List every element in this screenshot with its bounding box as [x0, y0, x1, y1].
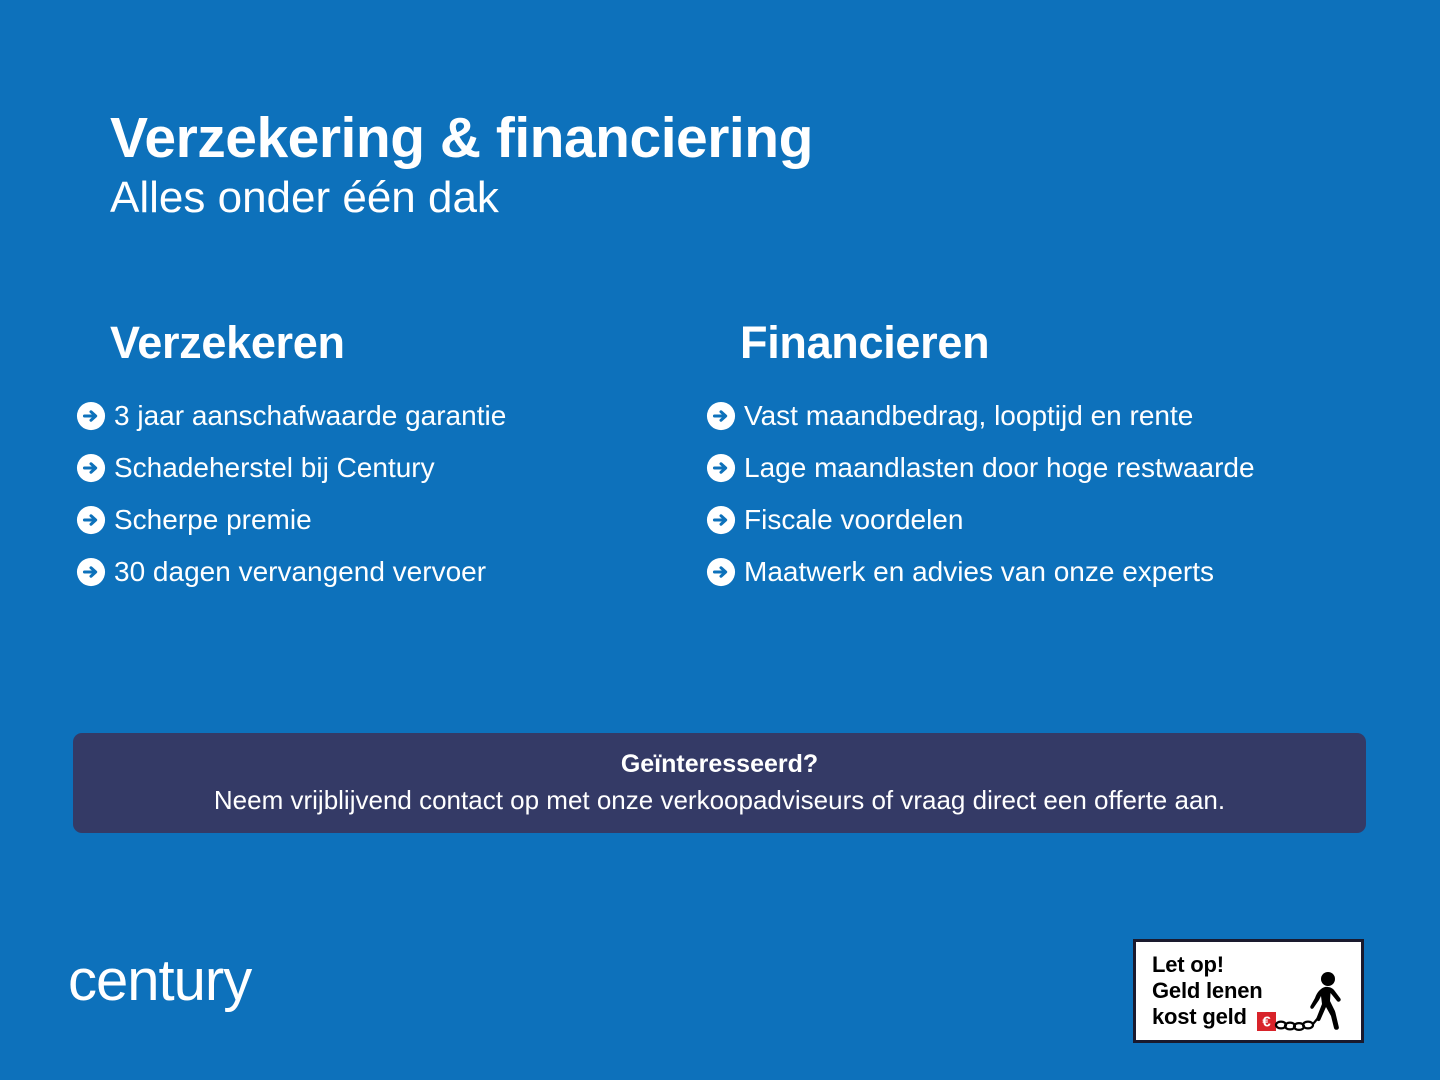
- column-heading-financieren: Financieren: [740, 318, 1330, 368]
- credit-warning-line-2: Geld lenen: [1152, 978, 1262, 1004]
- credit-warning-line-3: kost geld: [1152, 1004, 1262, 1030]
- feature-columns: Verzekeren 3 jaar aanschafwaarde garanti…: [0, 318, 1440, 598]
- list-item: Fiscale voordelen: [706, 494, 1330, 546]
- arrow-right-circle-icon: [706, 505, 736, 535]
- euro-block-icon: €: [1257, 1012, 1276, 1031]
- svg-text:€: €: [1262, 1014, 1271, 1031]
- credit-warning-inner: Let op! Geld lenen kost geld €: [1136, 942, 1361, 1040]
- arrow-right-circle-icon: [76, 557, 106, 587]
- credit-warning-line-1: Let op!: [1152, 952, 1262, 978]
- list-item: Maatwerk en advies van onze experts: [706, 546, 1330, 598]
- arrow-right-circle-icon: [76, 453, 106, 483]
- feature-label: Fiscale voordelen: [744, 506, 963, 534]
- feature-label: Scherpe premie: [114, 506, 312, 534]
- list-item: 3 jaar aanschafwaarde garantie: [76, 390, 630, 442]
- feature-list-verzekeren: 3 jaar aanschafwaarde garantie Schadeher…: [112, 390, 630, 598]
- feature-label: Lage maandlasten door hoge restwaarde: [744, 454, 1255, 482]
- slide-root: Verzekering & financiering Alles onder é…: [0, 0, 1440, 1080]
- chain-icon: [1276, 1018, 1318, 1030]
- feature-list-financieren: Vast maandbedrag, looptijd en rente Lage…: [742, 390, 1330, 598]
- arrow-right-circle-icon: [706, 453, 736, 483]
- cta-title: Geïnteresseerd?: [621, 749, 818, 779]
- cta-banner: Geïnteresseerd? Neem vrijblijvend contac…: [73, 733, 1366, 833]
- column-heading-verzekeren: Verzekeren: [110, 318, 630, 368]
- list-item: Vast maandbedrag, looptijd en rente: [706, 390, 1330, 442]
- column-verzekeren: Verzekeren 3 jaar aanschafwaarde garanti…: [0, 318, 630, 598]
- feature-label: 3 jaar aanschafwaarde garantie: [114, 402, 506, 430]
- list-item: 30 dagen vervangend vervoer: [76, 546, 630, 598]
- slide-header: Verzekering & financiering Alles onder é…: [110, 108, 1310, 223]
- list-item: Scherpe premie: [76, 494, 630, 546]
- cta-text: Neem vrijblijvend contact op met onze ve…: [214, 785, 1225, 816]
- list-item: Lage maandlasten door hoge restwaarde: [706, 442, 1330, 494]
- feature-label: Maatwerk en advies van onze experts: [744, 558, 1214, 586]
- column-financieren: Financieren Vast maandbedrag, looptijd e…: [630, 318, 1330, 598]
- credit-warning-box: Let op! Geld lenen kost geld €: [1133, 939, 1364, 1043]
- walking-person-with-chain-icon: €: [1255, 970, 1355, 1036]
- feature-label: 30 dagen vervangend vervoer: [114, 558, 486, 586]
- page-title: Verzekering & financiering: [110, 108, 1310, 168]
- arrow-right-circle-icon: [706, 401, 736, 431]
- list-item: Schadeherstel bij Century: [76, 442, 630, 494]
- arrow-right-circle-icon: [706, 557, 736, 587]
- arrow-right-circle-icon: [76, 505, 106, 535]
- century-logo: century: [68, 952, 251, 1010]
- page-subtitle: Alles onder één dak: [110, 174, 1310, 222]
- arrow-right-circle-icon: [76, 401, 106, 431]
- feature-label: Schadeherstel bij Century: [114, 454, 435, 482]
- feature-label: Vast maandbedrag, looptijd en rente: [744, 402, 1193, 430]
- credit-warning-text: Let op! Geld lenen kost geld: [1152, 952, 1262, 1030]
